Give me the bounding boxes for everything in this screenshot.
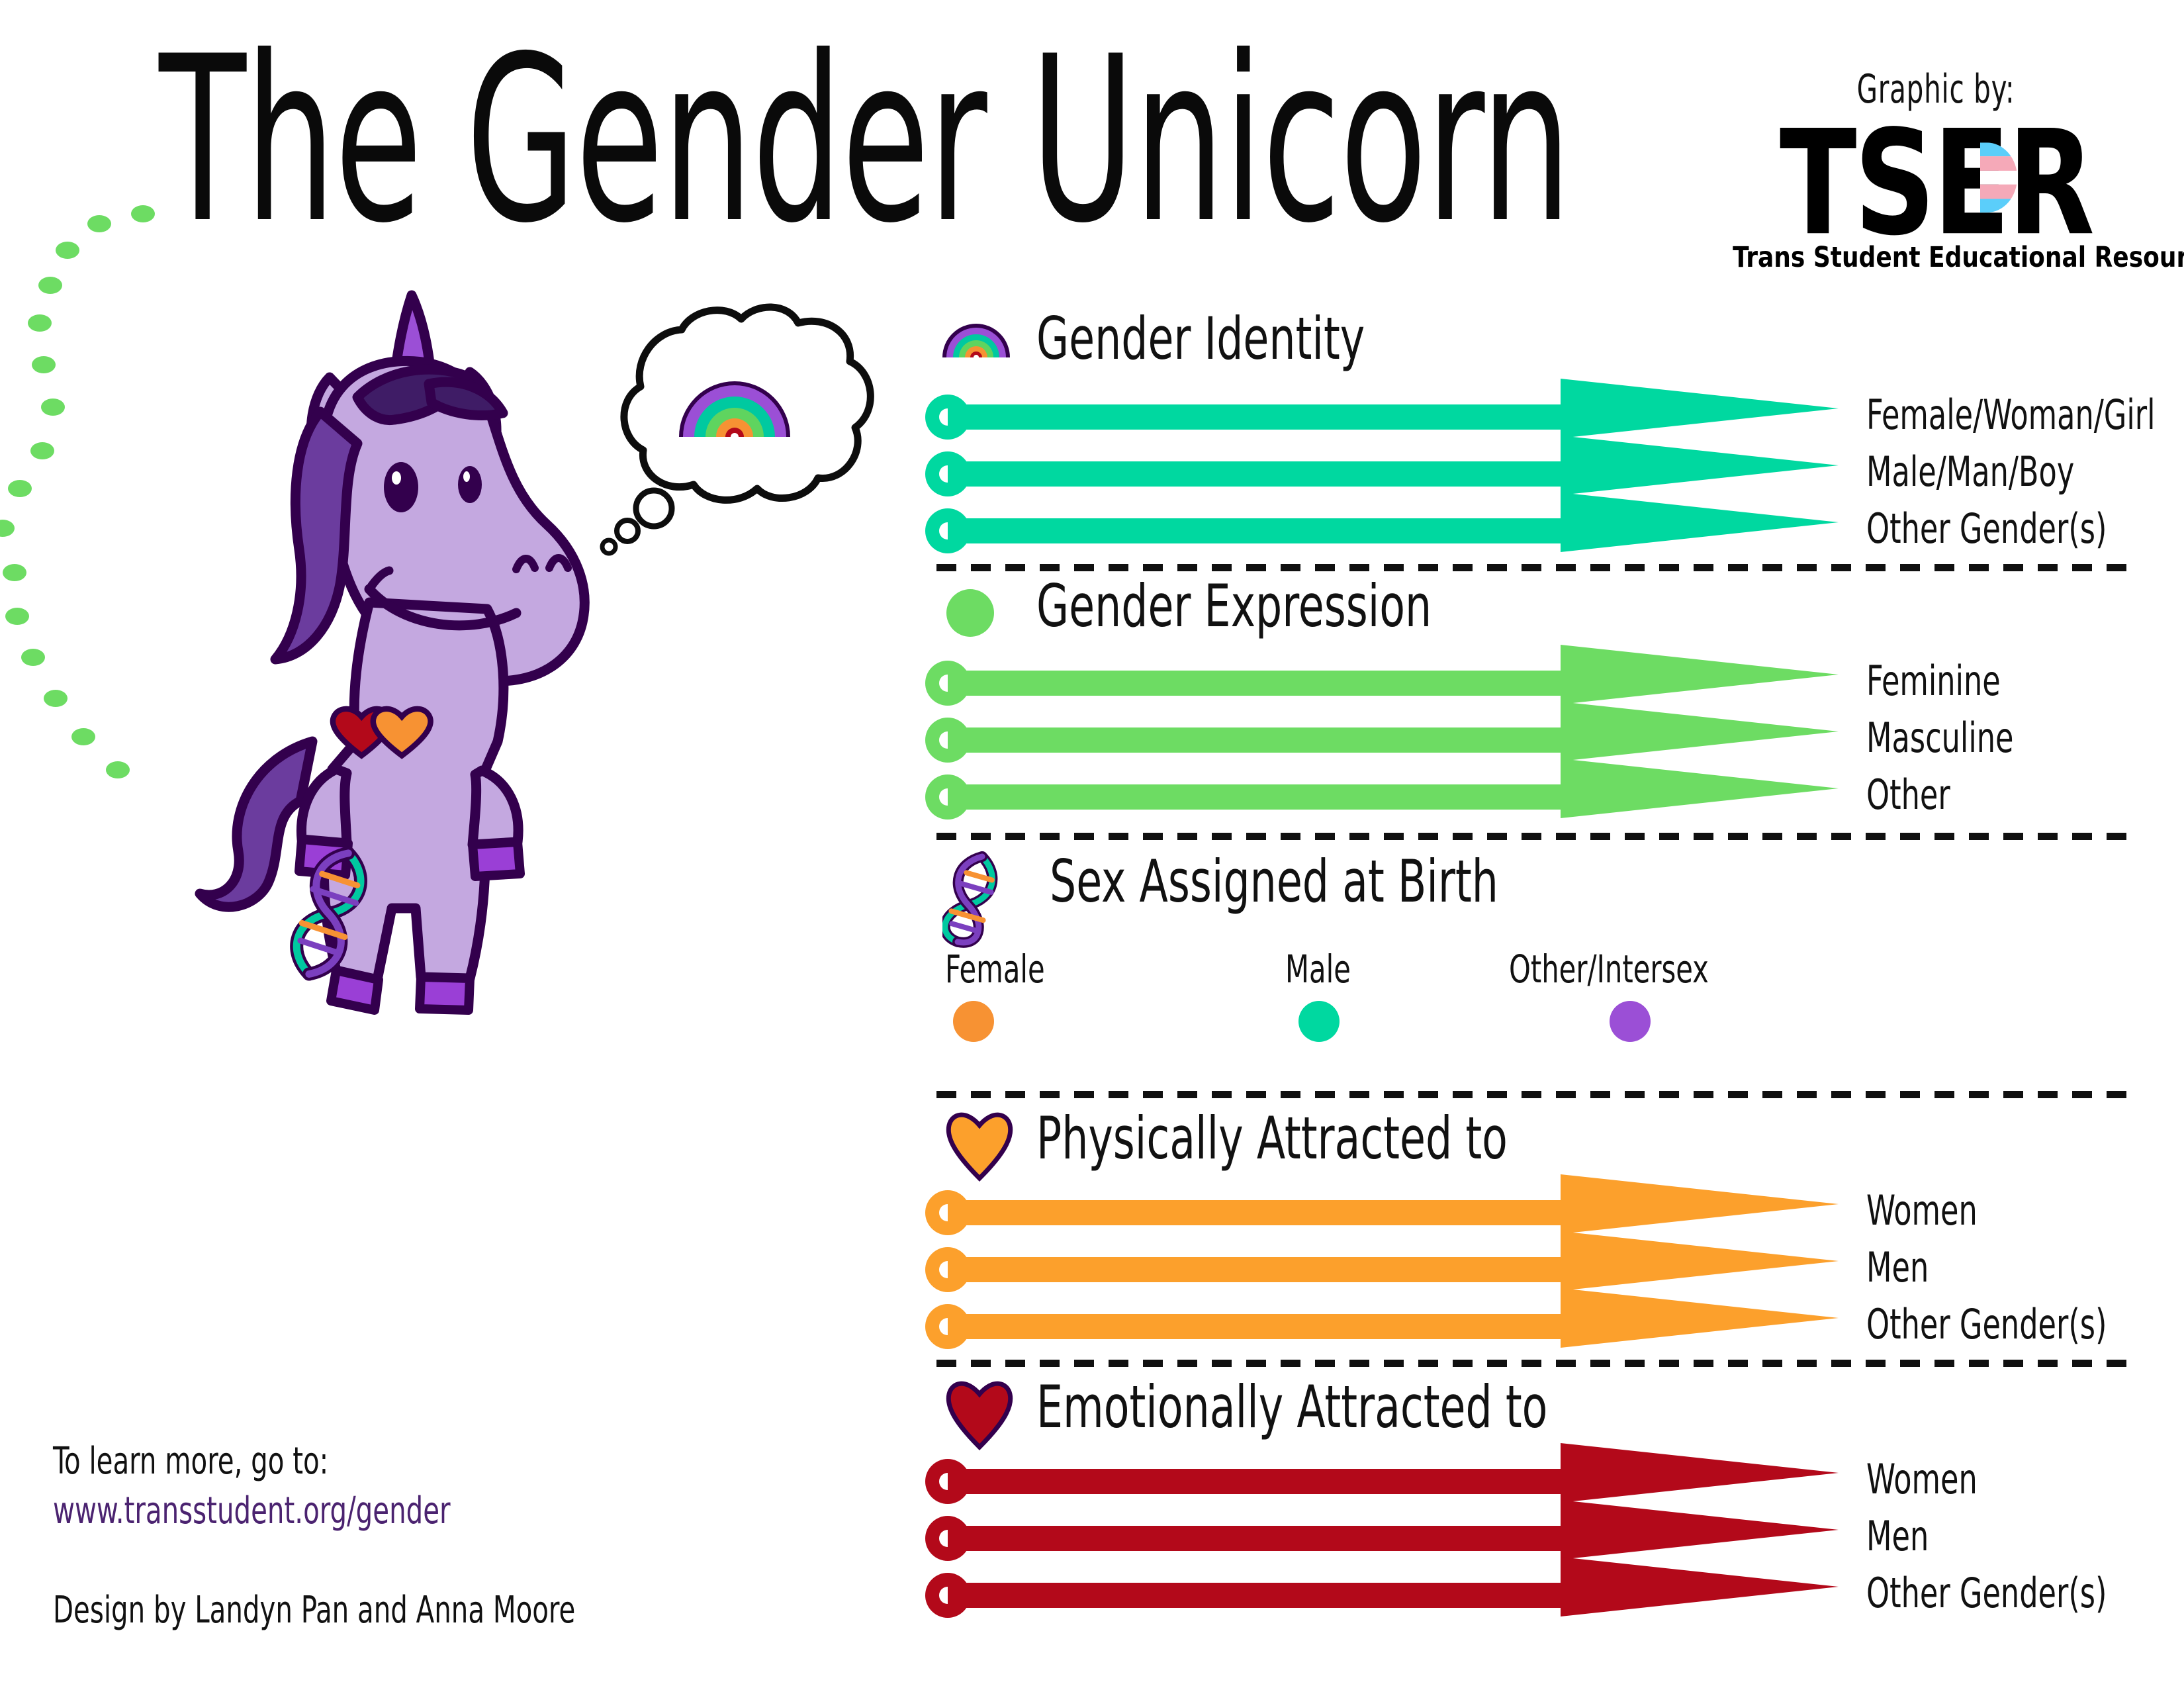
sab-label-female: Female [945,947,1045,992]
arrow-label: Masculine [1866,714,2013,762]
learn-more-label: To learn more, go to: [53,1440,328,1483]
arrow-label: Other Gender(s) [1866,1300,2107,1348]
green-circle-icon [946,589,994,637]
arrow-label: Other Gender(s) [1866,1569,2107,1617]
section-divider [936,1091,2128,1098]
rainbow-icon [940,312,1013,360]
arrow-row[interactable]: Female/Woman/Girl [925,396,2130,438]
arrow-row[interactable]: Other [925,776,2130,818]
sab-label-other-intersex: Other/Intersex [1509,947,1709,992]
arrow-label: Women [1866,1186,1978,1235]
arrow-row[interactable]: Male/Man/Boy [925,453,2130,495]
tser-wordmark: TSER [1717,115,2154,252]
section-title-emotionally-attracted-to: Emotionally Attracted to [1036,1378,1547,1436]
arrow-row[interactable]: Feminine [925,662,2130,704]
arrow-row[interactable]: Women [925,1460,2130,1503]
arrow-row[interactable]: Other Gender(s) [925,510,2130,552]
page-title: The Gender Unicorn [159,26,1366,270]
section-divider [936,1360,2128,1367]
arrow-row[interactable]: Women [925,1192,2130,1234]
arrow-label: Men [1866,1512,1929,1560]
section-divider [936,564,2128,571]
arrow-label: Other Gender(s) [1866,504,2107,553]
arrow-row[interactable]: Other Gender(s) [925,1574,2130,1617]
section-title-sex-assigned-at-birth: Sex Assigned at Birth [1050,853,1498,911]
arrow-row[interactable]: Masculine [925,719,2130,761]
arrow-row[interactable]: Other Gender(s) [925,1305,2130,1348]
section-title-physically-attracted-to: Physically Attracted to [1036,1109,1508,1168]
orange-heart-icon [944,1109,1015,1182]
dna-icon [942,851,1022,951]
arrow-label: Women [1866,1455,1978,1503]
arrow-label: Men [1866,1243,1929,1291]
unicorn-character [40,291,927,1403]
sab-dot-other-intersex[interactable] [1610,1001,1651,1042]
website-url-link[interactable]: www.transstudent.org/gender [53,1489,451,1532]
sab-dot-female[interactable] [953,1001,994,1042]
red-heart-icon [944,1378,1015,1451]
section-title-gender-identity: Gender Identity [1036,310,1365,368]
arrow-label: Feminine [1866,657,2001,705]
tser-logo: Graphic by: TSER Trans Student Education… [1717,66,2154,274]
arrow-label: Male/Man/Boy [1866,447,2074,496]
arrow-row[interactable]: Men [925,1248,2130,1291]
sab-dot-male[interactable] [1298,1001,1340,1042]
arrow-label: Other [1866,771,1950,819]
tser-subtitle: Trans Student Educational Resources [1733,241,2139,274]
arrow-row[interactable]: Men [925,1517,2130,1560]
section-divider [936,833,2128,840]
arrow-label: Female/Woman/Girl [1866,391,2156,439]
sab-label-male: Male [1285,947,1351,992]
section-title-gender-expression: Gender Expression [1036,577,1432,635]
unicorn-body [159,278,662,1046]
design-credit: Design by Landyn Pan and Anna Moore [53,1589,575,1632]
